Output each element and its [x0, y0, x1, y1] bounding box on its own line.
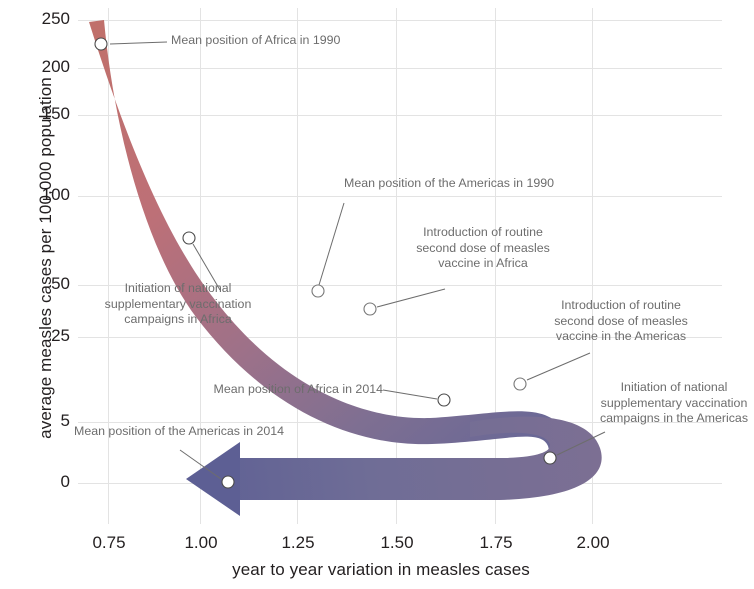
annotation-americas-second-dose: Introduction of routine second dose of m…: [540, 298, 702, 345]
marker-americas-second-dose: [514, 378, 526, 390]
y-tick-5: 5: [24, 411, 70, 431]
annotation-americas-campaigns: Initiation of national supplementary vac…: [595, 380, 753, 427]
marker-africa-campaigns: [183, 232, 195, 244]
x-axis-title: year to year variation in measles cases: [161, 560, 601, 580]
y-tick-150: 150: [24, 104, 70, 124]
x-tick-125: 1.25: [268, 533, 328, 553]
annotation-americas-1990: Mean position of the Americas in 1990: [344, 176, 554, 192]
x-tick-175: 1.75: [466, 533, 526, 553]
annotation-africa-campaigns: Initiation of national supplementary vac…: [88, 281, 268, 328]
y-tick-200: 200: [24, 57, 70, 77]
y-tick-25: 25: [24, 326, 70, 346]
x-tick-150: 1.50: [367, 533, 427, 553]
measles-chart: average measles cases per 100,000 popula…: [0, 0, 754, 589]
annotation-africa-second-dose: Introduction of routine second dose of m…: [409, 225, 557, 272]
marker-americas-1990: [312, 285, 324, 297]
x-tick-100: 1.00: [171, 533, 231, 553]
y-tick-0: 0: [24, 472, 70, 492]
marker-africa-2014: [438, 394, 450, 406]
annotation-africa-1990: Mean position of Africa in 1990: [171, 33, 340, 49]
x-tick-200: 2.00: [563, 533, 623, 553]
x-tick-075: 0.75: [79, 533, 139, 553]
y-tick-250: 250: [24, 9, 70, 29]
marker-americas-2014: [222, 476, 234, 488]
y-tick-100: 100: [24, 185, 70, 205]
annotation-africa-2014: Mean position of Africa in 2014: [163, 382, 383, 398]
annotation-americas-2014: Mean position of the Americas in 2014: [74, 424, 284, 440]
y-tick-50: 50: [24, 274, 70, 294]
marker-africa-1990: [95, 38, 107, 50]
marker-africa-second-dose: [364, 303, 376, 315]
marker-americas-campaigns: [544, 452, 556, 464]
